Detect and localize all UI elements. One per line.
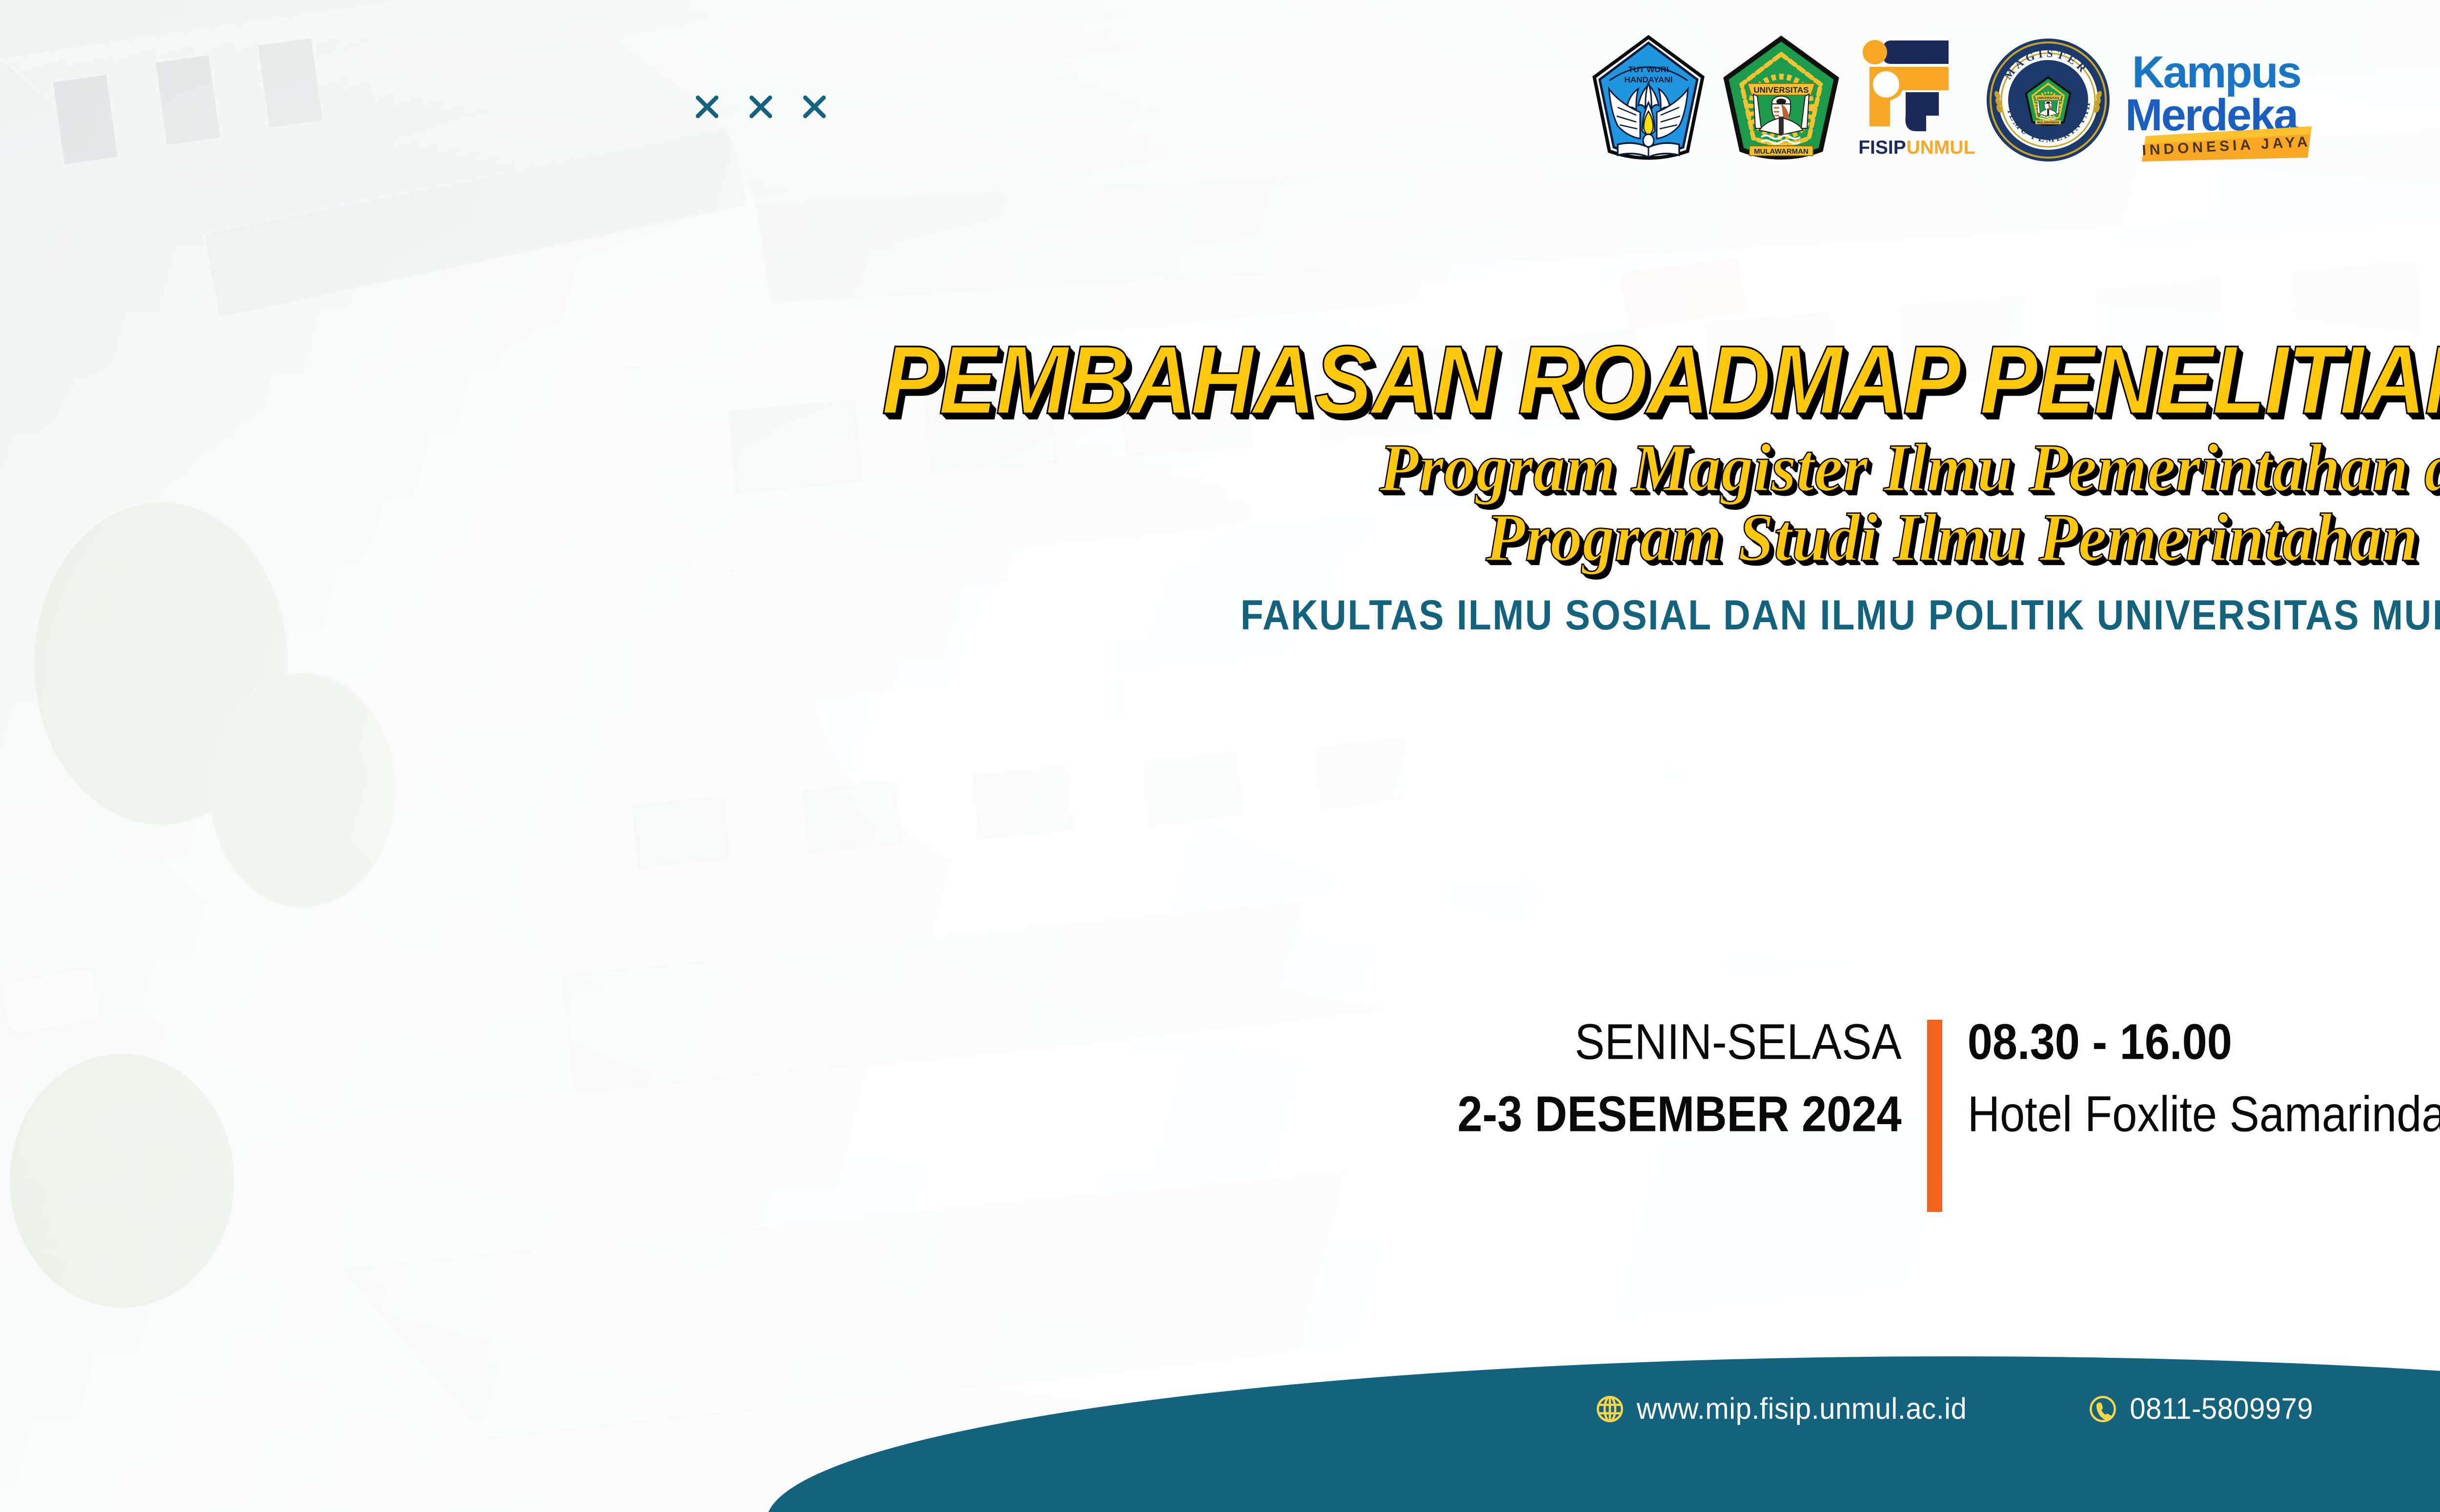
svg-text:Kampus: Kampus — [2132, 47, 2300, 97]
details-divider — [1927, 1020, 1942, 1212]
footer-website-text: www.mip.fisip.unmul.ac.id — [1637, 1391, 1967, 1426]
faculty-line: FAKULTAS ILMU SOSIAL DAN ILMU POLITIK UN… — [0, 591, 2440, 640]
background-center-glow — [0, 0, 2440, 1512]
svg-text:MULAWARMAN: MULAWARMAN — [1754, 147, 1809, 156]
footer-website[interactable]: www.mip.fisip.unmul.ac.id — [1596, 1392, 1967, 1425]
phone-icon — [2089, 1395, 2117, 1423]
svg-text:FISIP: FISIP — [1858, 137, 1906, 158]
event-days: SENIN-SELASA — [1458, 1017, 1902, 1067]
kampus-merdeka-logo: Kampus Merdeka INDONESIA JAYA — [2121, 37, 2317, 163]
event-date-column: SENIN-SELASA 2-3 DESEMBER 2024 — [1458, 1020, 1927, 1137]
svg-text:MULAWARMAN: MULAWARMAN — [2037, 121, 2059, 124]
page-title: PEMBAHASAN ROADMAP PENELITIAN DAN RENOP — [0, 331, 2440, 428]
background-photo — [0, 0, 2440, 1512]
event-venue: Hotel Foxlite Samarinda — [1968, 1089, 2440, 1139]
footer-phone[interactable]: 0811-5809979 — [2089, 1392, 2313, 1425]
svg-text:TUT WURI: TUT WURI — [1628, 65, 1668, 74]
universitas-mulawarman-logo: UNIVERSITAS MULAWARMAN — [1720, 35, 1842, 165]
title-block: PEMBAHASAN ROADMAP PENELITIAN DAN RENOP … — [0, 337, 2440, 637]
footer-phone-text: 0811-5809979 — [2130, 1391, 2313, 1426]
event-banner: TUT WURI HANDAYANI — [0, 0, 2440, 1512]
svg-text:UNIVERSITAS: UNIVERSITAS — [2037, 97, 2059, 100]
tut-wuri-handayani-logo: TUT WURI HANDAYANI — [1587, 34, 1709, 166]
subtitle-line-1: Program Magister Ilmu Pemerintahan dan — [0, 432, 2440, 504]
svg-text:UNIVERSITAS: UNIVERSITAS — [1753, 85, 1809, 95]
event-venue-column: 08.30 - 16.00 Hotel Foxlite Samarinda — [1942, 1020, 2440, 1137]
magister-ilmu-pemerintahan-logo: MAGISTER ILMU PEMERINTAHAN UN — [1986, 38, 2111, 162]
logo-row: TUT WURI HANDAYANI — [0, 29, 2440, 171]
subtitle-line-2: Program Studi Ilmu Pemerintahan — [0, 502, 2440, 573]
globe-icon — [1596, 1395, 1624, 1423]
footer-contacts: www.mip.fisip.unmul.ac.id 0811-5809979 — [766, 1392, 2440, 1425]
event-details: SENIN-SELASA 2-3 DESEMBER 2024 08.30 - 1… — [0, 1020, 2440, 1212]
event-time: 08.30 - 16.00 — [1968, 1017, 2440, 1067]
event-date: 2-3 DESEMBER 2024 — [1458, 1089, 1902, 1139]
svg-text:UNMUL: UNMUL — [1907, 137, 1975, 158]
fisip-unmul-logo: FISIP UNMUL — [1853, 34, 1975, 166]
